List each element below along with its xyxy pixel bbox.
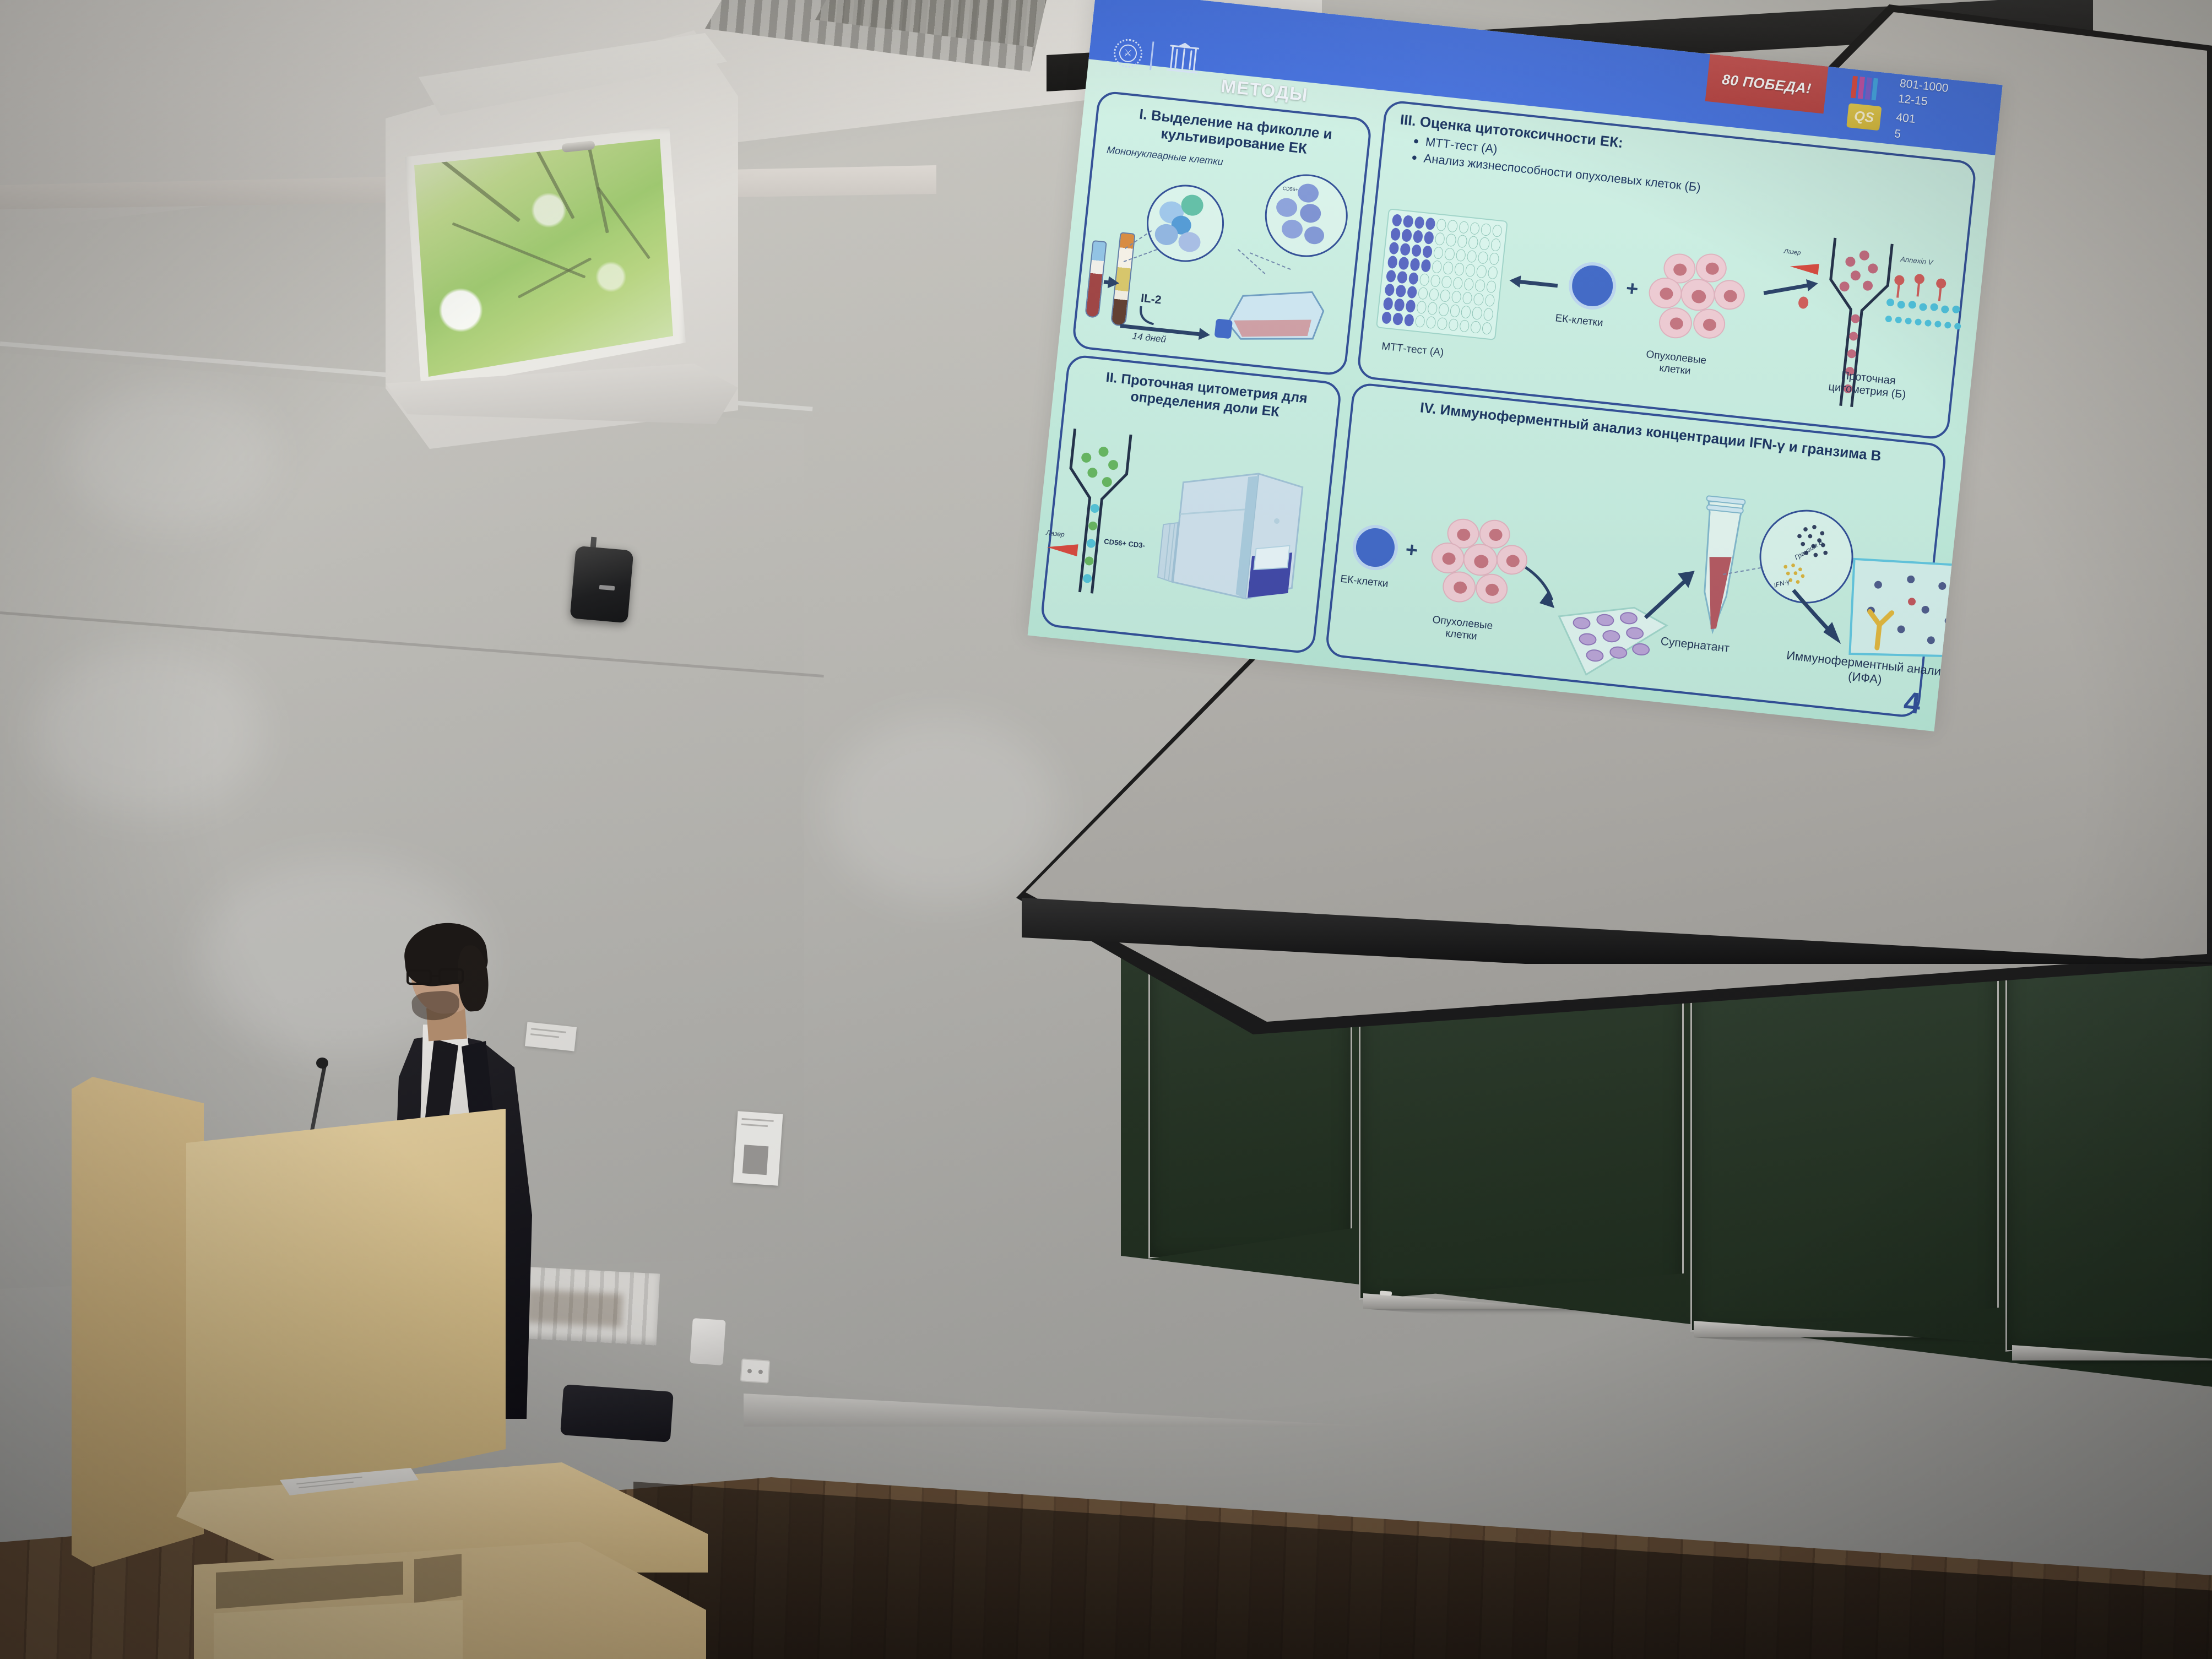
plus-sign-3: +	[1625, 277, 1640, 302]
slide-section-3: III. Оценка цитотоксичности ЕК: МТТ-тест…	[1356, 100, 1977, 441]
projected-slide-container: ⚔ 80 ПОБЕДА! QS 801-1000	[1000, 0, 2027, 991]
slide-section-4: IV. Иммуноферментный анализ концентрации…	[1325, 382, 1948, 718]
nk-cells-circle: CD56+	[1261, 170, 1352, 261]
culture-flask	[1210, 271, 1332, 354]
arrow-to-plate	[1517, 280, 1558, 288]
nk-cells-label-4: ЕК-клетки	[1340, 573, 1389, 590]
plus-sign-4: +	[1405, 538, 1419, 563]
slide-section-2: II. Проточная цитометрия для определения…	[1040, 354, 1342, 654]
wall-speaker	[570, 546, 633, 624]
annexin-markers-icon	[1884, 264, 1972, 333]
supernatant-tube	[1681, 491, 1756, 641]
chalk-piece[interactable]	[1380, 1291, 1392, 1296]
the-ranking-logo	[1848, 72, 1879, 104]
chalkboard-panel-far-right	[2005, 917, 2212, 1352]
qs-logo-label: QS	[1853, 108, 1875, 126]
tumor-cell-cluster-3	[1644, 247, 1758, 354]
nk-cell-icon-4	[1351, 523, 1400, 572]
slide-section-1: I. Выделение на фиколле и культивировани…	[1071, 90, 1373, 377]
microphone-head	[316, 1058, 328, 1069]
wall-outlet[interactable]	[740, 1358, 771, 1384]
cd56-marker-label: CD56+	[1282, 186, 1298, 193]
presenter-glasses	[406, 969, 470, 986]
university-pillar-logo	[1164, 39, 1202, 77]
mtt-test-label: МТТ-тест (А)	[1381, 340, 1444, 359]
wall-blotch	[66, 386, 275, 529]
podium-side-panel	[72, 1077, 204, 1567]
window-glass	[414, 139, 673, 377]
laser-label-3: Лазер	[1783, 248, 1801, 256]
wall-junction-box	[690, 1318, 726, 1365]
tumor-cells-label-4: Опухолевые клетки	[1419, 613, 1504, 646]
podium-lectern-board	[186, 1109, 506, 1516]
nk-cell-icon	[1566, 260, 1619, 312]
presentation-slide: ⚔ 80 ПОБЕДА! QS 801-1000	[1028, 0, 2003, 731]
qs-rank-line2: 5	[1894, 127, 1901, 142]
qs-ranking-logo: QS	[1846, 103, 1882, 131]
duration-label: 14 дней	[1132, 331, 1167, 345]
flow-cytometer-machine	[1142, 441, 1318, 622]
laser-beam-icon-2	[1046, 539, 1087, 559]
laser-label-2: Лазер	[1046, 529, 1065, 538]
tumor-cells-label-3: Опухолевые клетки	[1636, 348, 1715, 380]
the-rank-line2: 12-15	[1897, 92, 1928, 110]
mononuclear-cells-circle	[1143, 181, 1228, 265]
section-2-title: II. Проточная цитометрия для определения…	[1078, 366, 1333, 426]
laser-beam-icon-3	[1789, 259, 1827, 278]
wooden-podium	[77, 1077, 672, 1659]
qs-rank-line1: 401	[1895, 110, 1916, 127]
wall-notice-small	[733, 1111, 783, 1185]
section-1-subtitle: Мононуклеарные клетки	[1106, 144, 1223, 168]
arrow-tube-transfer	[1104, 280, 1112, 284]
lecture-hall-scene: ⚔ 80 ПОБЕДА! QS 801-1000	[0, 0, 2212, 1659]
nk-cells-label-3: ЕК-клетки	[1554, 312, 1603, 329]
wall-blotch	[33, 650, 264, 815]
arrow-to-cytometry	[1764, 283, 1811, 295]
mtt-96-well-plate	[1376, 208, 1508, 340]
flow-cytometry-funnel-2	[1054, 427, 1135, 599]
slide-number: 4	[1902, 685, 1922, 721]
victory-badge-label: 80 ПОБЕДА!	[1721, 71, 1812, 97]
blood-tube-1	[1085, 240, 1107, 318]
single-cell-dot	[1798, 296, 1809, 310]
podium-shelf-opening-small	[414, 1554, 462, 1603]
il2-curve-arrow	[1136, 305, 1160, 328]
